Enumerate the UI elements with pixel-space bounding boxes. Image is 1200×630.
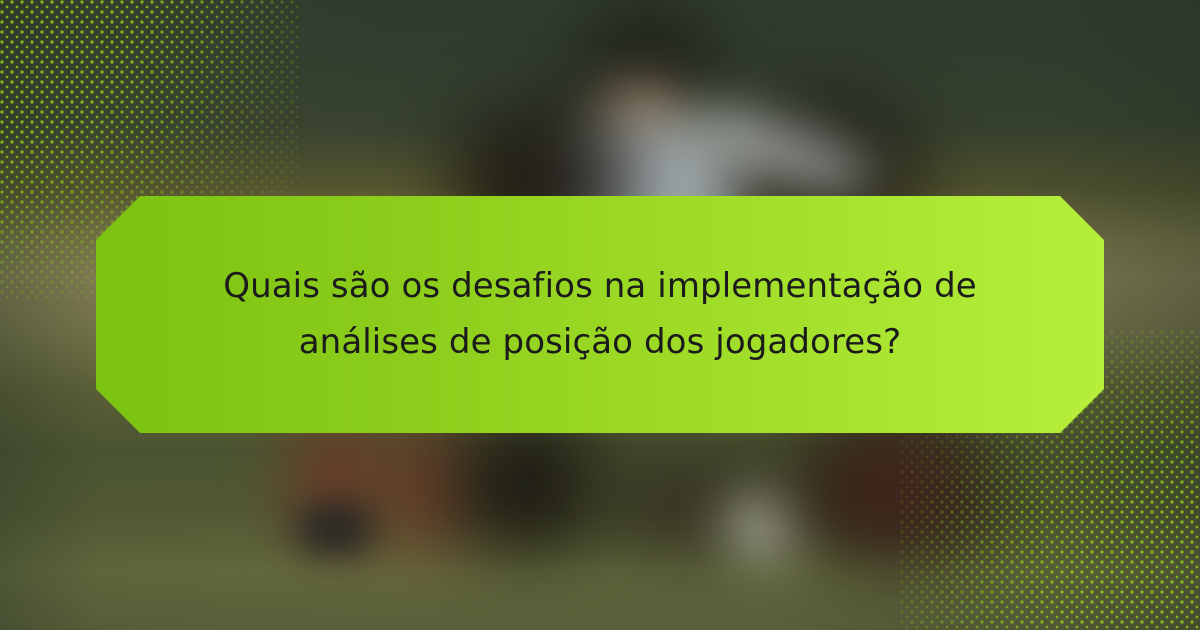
question-card: Quais são os desafios na implementação d…: [0, 0, 1200, 630]
question-text: Quais são os desafios na implementação d…: [180, 259, 1020, 369]
question-banner: Quais são os desafios na implementação d…: [96, 196, 1104, 433]
